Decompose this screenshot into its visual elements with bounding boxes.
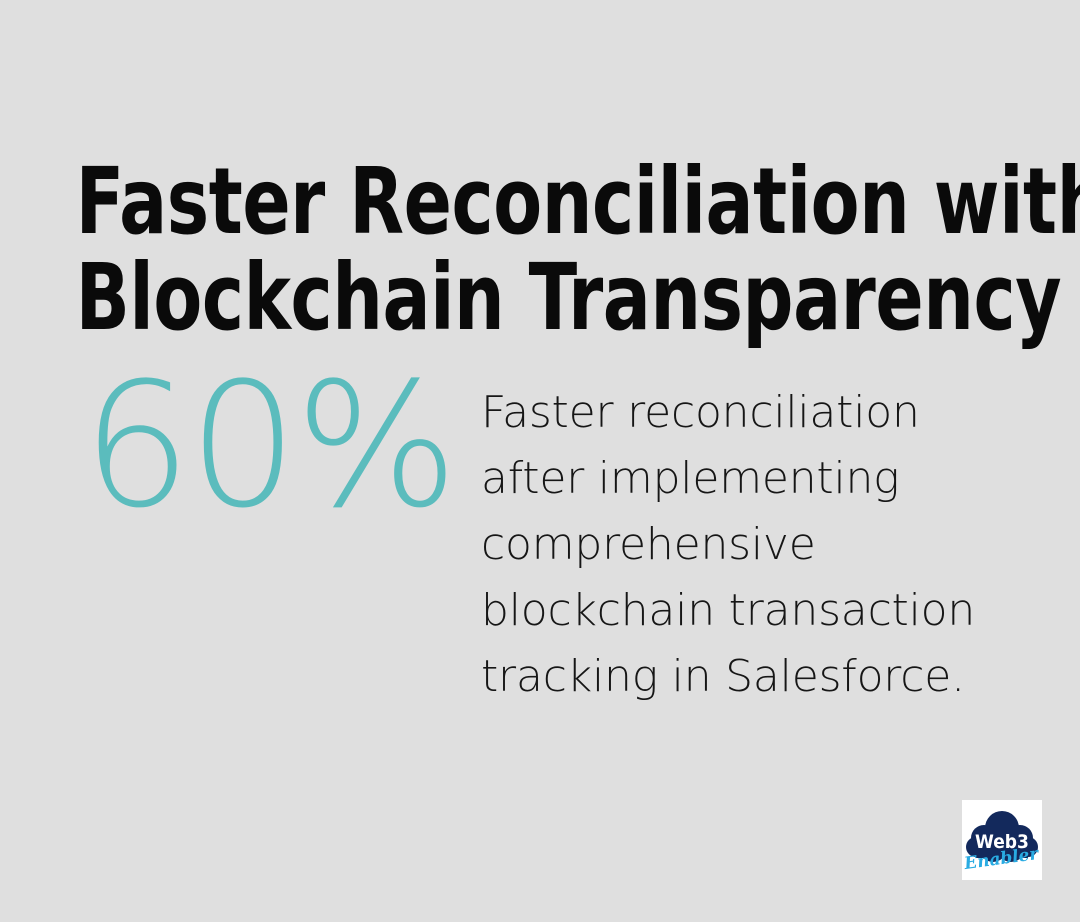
statistic-block: 60% Faster reconciliation after implemen… <box>0 360 1080 720</box>
stat-percentage: 60% <box>82 360 412 532</box>
page-title: Faster Reconciliation with Blockchain Tr… <box>76 154 1005 346</box>
infographic-canvas: Faster Reconciliation with Blockchain Tr… <box>0 0 1080 922</box>
web3-enabler-logo[interactable]: Web3 Enabler <box>962 800 1042 880</box>
page-title-line-2: Blockchain Transparency <box>76 250 1005 346</box>
stat-description: Faster reconciliation after implementing… <box>481 380 1001 710</box>
page-title-line-1: Faster Reconciliation with <box>76 154 1005 250</box>
